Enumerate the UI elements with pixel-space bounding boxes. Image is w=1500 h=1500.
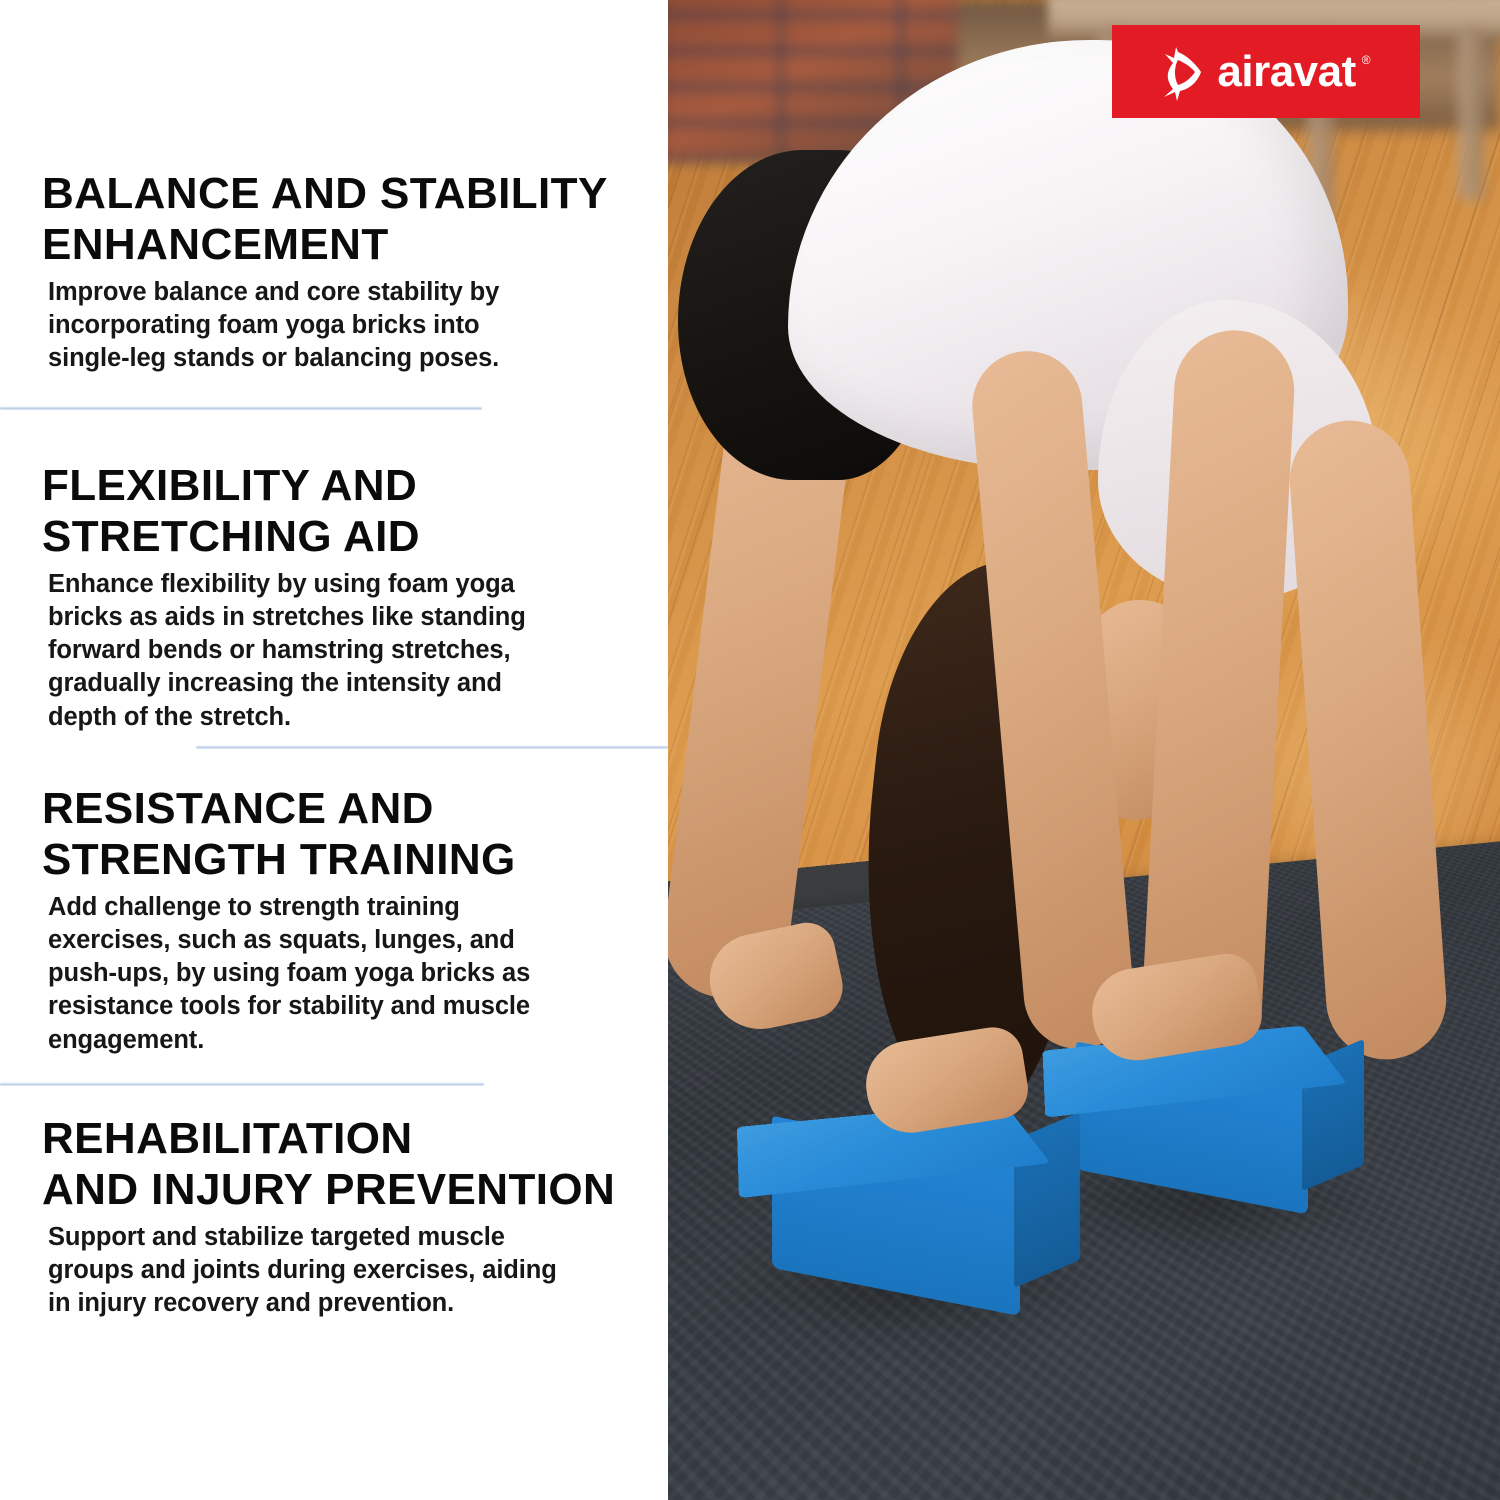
benefit-body: Improve balance and core stability by in… [48,276,608,375]
airavat-bow-mark-icon [1161,43,1211,101]
product-lifestyle-photo: airavat ® [668,0,1500,1500]
benefit-body: Enhance flexibility by using foam yoga b… [48,568,526,734]
bench-leg [1458,30,1484,200]
benefit-block-balance-and-stability: BALANCE AND STABILITY ENHANCEMENT Improv… [42,168,608,375]
brand-logo[interactable]: airavat ® [1112,25,1420,118]
benefit-heading: FLEXIBILITY AND STRETCHING AID [42,460,526,562]
brand-wordmark: airavat [1217,50,1355,94]
benefit-block-rehabilitation-and-injury-prevention: REHABILITATION AND INJURY PREVENTION Sup… [42,1113,615,1320]
benefit-heading: BALANCE AND STABILITY ENHANCEMENT [42,168,608,270]
section-divider-3 [0,1082,484,1086]
benefit-block-flexibility-and-stretching: FLEXIBILITY AND STRETCHING AID Enhance f… [42,460,526,734]
section-divider-1 [0,406,482,410]
benefit-body: Add challenge to strength training exerc… [48,891,530,1057]
benefit-heading: RESISTANCE AND STRENGTH TRAINING [42,783,530,885]
benefits-text-panel: BALANCE AND STABILITY ENHANCEMENT Improv… [0,0,668,1500]
benefit-block-resistance-and-strength: RESISTANCE AND STRENGTH TRAINING Add cha… [42,783,530,1057]
benefit-body: Support and stabilize targeted muscle gr… [48,1221,615,1320]
benefit-heading: REHABILITATION AND INJURY PREVENTION [42,1113,615,1215]
trademark-symbol: ® [1362,53,1371,67]
section-divider-2 [196,745,668,749]
infographic-page: BALANCE AND STABILITY ENHANCEMENT Improv… [0,0,1500,1500]
